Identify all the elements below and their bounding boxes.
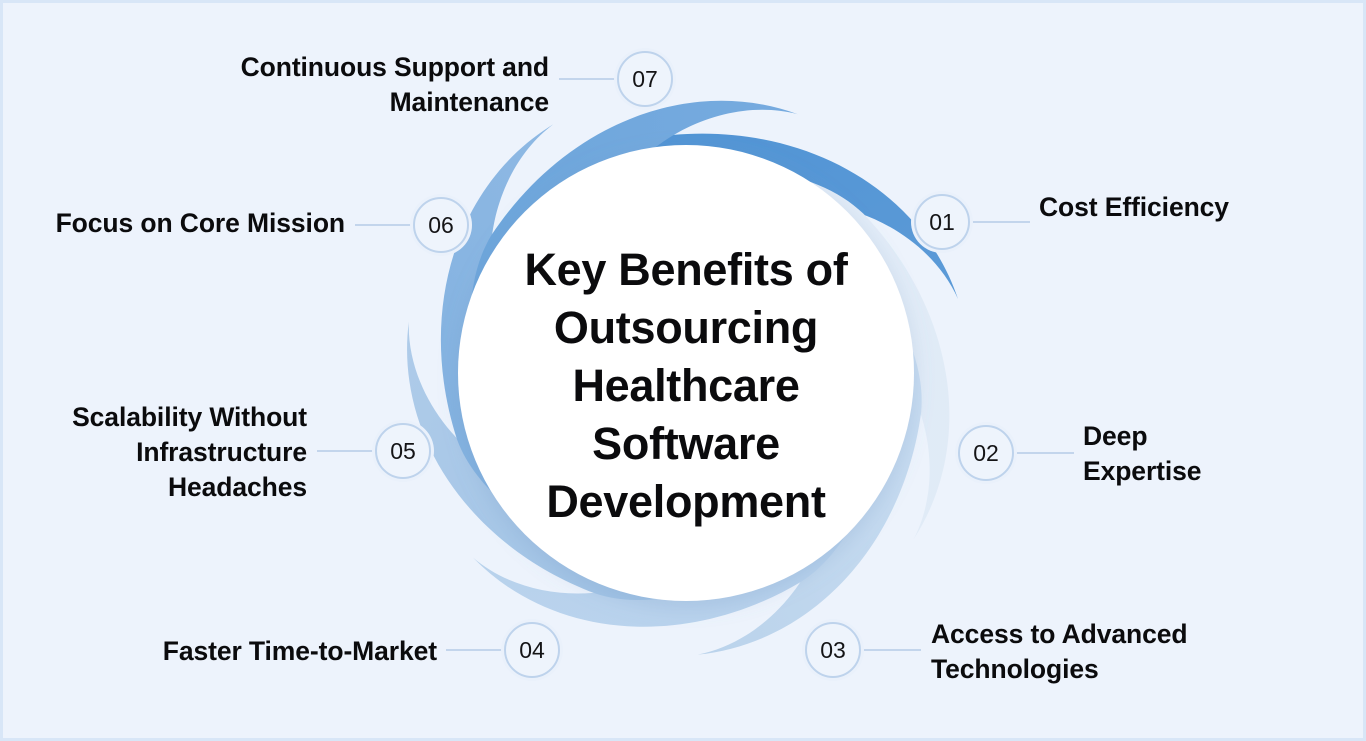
badge-06[interactable]: 06 xyxy=(413,197,469,253)
leader-line-07 xyxy=(559,78,617,80)
title-line-5: Development xyxy=(456,473,916,531)
infographic-canvas: Key Benefits of Outsourcing Healthcare S… xyxy=(0,0,1366,741)
badge-03[interactable]: 03 xyxy=(805,622,861,678)
leader-line-06 xyxy=(355,224,413,226)
title-line-4: Software xyxy=(456,415,916,473)
title-line-1: Key Benefits of xyxy=(456,241,916,299)
label-continuous-support-and-maintenance: Continuous Support and Maintenance xyxy=(203,50,549,120)
leader-line-02 xyxy=(1016,452,1074,454)
leader-line-01 xyxy=(972,221,1030,223)
label-focus-on-core-mission: Focus on Core Mission xyxy=(33,206,345,241)
page-title: Key Benefits of Outsourcing Healthcare S… xyxy=(456,241,916,531)
title-line-3: Healthcare xyxy=(456,357,916,415)
label-faster-time-to-market: Faster Time-to-Market xyxy=(116,634,437,669)
badge-02[interactable]: 02 xyxy=(958,425,1014,481)
badge-05[interactable]: 05 xyxy=(375,423,431,479)
badge-04[interactable]: 04 xyxy=(504,622,560,678)
leader-line-05 xyxy=(317,450,375,452)
label-deep-expertise: Deep Expertise xyxy=(1083,419,1201,489)
title-line-2: Outsourcing xyxy=(456,299,916,357)
badge-01[interactable]: 01 xyxy=(914,194,970,250)
leader-line-04 xyxy=(446,649,504,651)
label-cost-efficiency: Cost Efficiency xyxy=(1039,190,1229,225)
label-access-to-advanced-technologies: Access to Advanced Technologies xyxy=(931,617,1187,687)
badge-07[interactable]: 07 xyxy=(617,51,673,107)
leader-line-03 xyxy=(863,649,921,651)
label-scalability-without-infrastructure-headaches: Scalability Without Infrastructure Heada… xyxy=(38,400,307,505)
